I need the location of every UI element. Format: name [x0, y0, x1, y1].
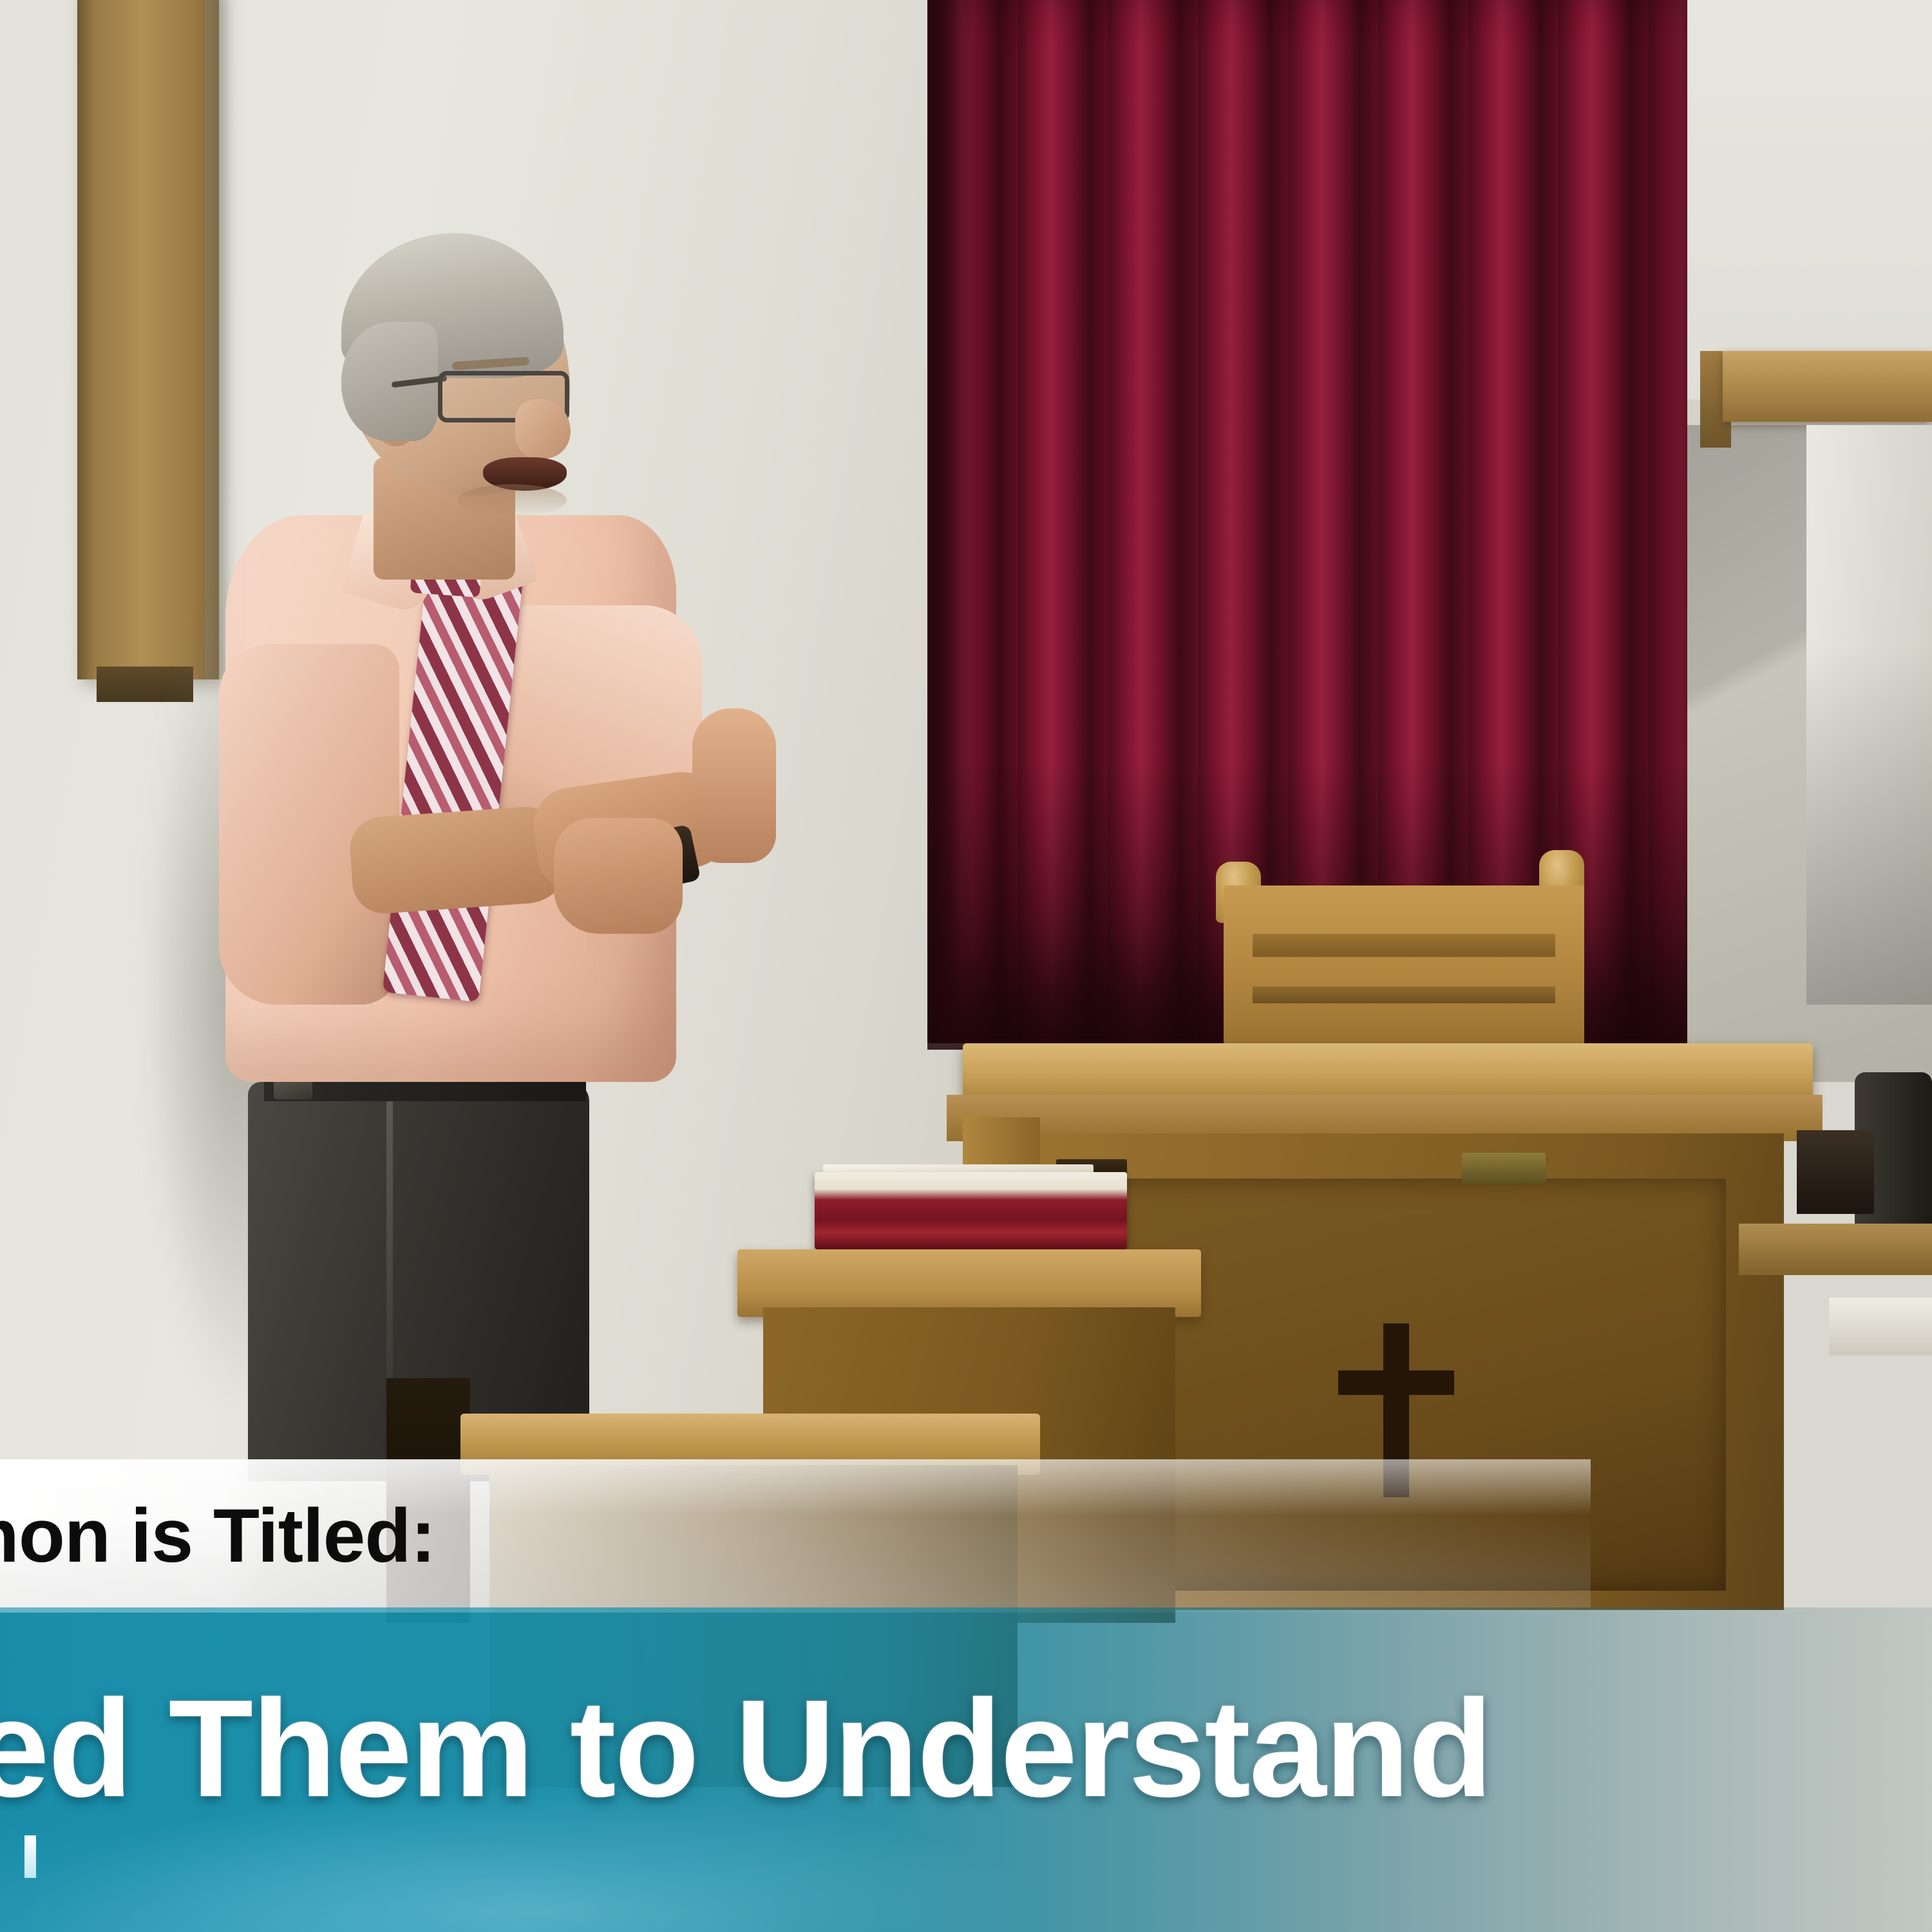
title-bar-top-edge [0, 1607, 1932, 1613]
chair-slat-upper [1253, 934, 1555, 957]
chair-slat-lower [1253, 987, 1555, 1003]
video-frame: rmon is Titled: lped Them to Understand [0, 0, 1932, 1932]
speaker-figure [213, 245, 747, 1468]
title-bar-left-tick [24, 1835, 36, 1878]
sermon-title-text: lped Them to Understand [0, 1674, 1913, 1823]
wall-wood-panel [77, 0, 219, 679]
speaker-chin-shadow [457, 484, 567, 516]
right-shelf-books [1797, 1130, 1874, 1214]
cross-icon-horizontal [1338, 1370, 1454, 1395]
right-wooden-shelf [1739, 1224, 1932, 1275]
speaker-hand-right [692, 708, 776, 863]
pulpit-chair-back [1224, 885, 1584, 1053]
wooden-beam [1723, 351, 1932, 422]
stacked-bibles [815, 1172, 1127, 1249]
subtitle-text: rmon is Titled: [0, 1481, 1468, 1591]
right-paper-sheet [1829, 1298, 1932, 1356]
right-white-board-shadow [1806, 644, 1932, 1005]
pulpit-plaque [1462, 1153, 1546, 1184]
speaker-hand-left [554, 818, 683, 934]
